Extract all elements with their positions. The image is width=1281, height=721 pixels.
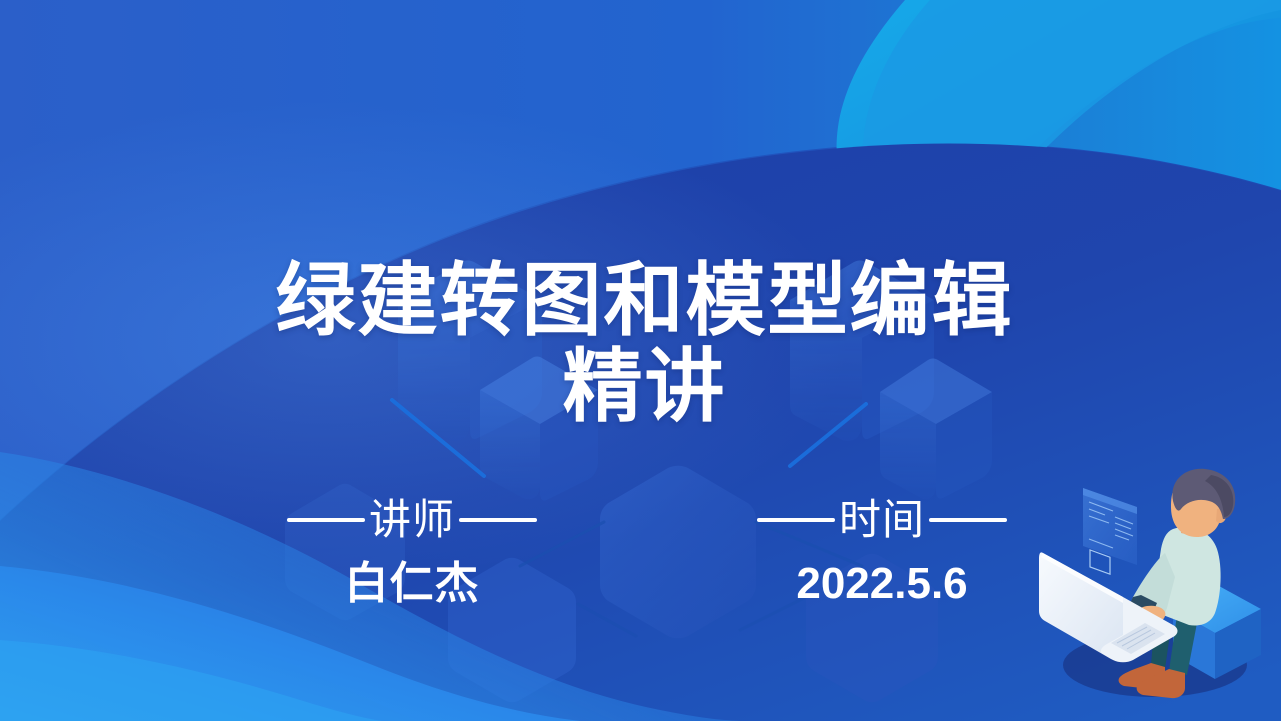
rule-right-instructor bbox=[459, 518, 537, 522]
slide-title: 绿建转图和模型编辑 精讲 bbox=[0, 258, 1281, 430]
meta-label-instructor: 讲师 bbox=[369, 496, 455, 544]
title-line-1: 绿建转图和模型编辑 bbox=[8, 258, 1281, 344]
rule-left-instructor bbox=[287, 518, 365, 522]
rule-left-date bbox=[757, 518, 835, 522]
meta-value-instructor: 白仁杰 bbox=[345, 558, 480, 610]
meta-head-date: 时间 bbox=[757, 496, 1007, 544]
floating-ui-panel bbox=[1083, 488, 1137, 574]
meta-value-date: 2022.5.6 bbox=[796, 558, 967, 610]
rule-right-date bbox=[929, 518, 1007, 522]
meta-block-instructor: 讲师 白仁杰 bbox=[232, 496, 592, 610]
meta-label-date: 时间 bbox=[839, 496, 925, 544]
meta-head-instructor: 讲师 bbox=[287, 496, 537, 544]
slide-meta-row: 讲师 白仁杰 时间 2022.5.6 bbox=[232, 496, 1062, 610]
presentation-title-slide: 绿建转图和模型编辑 精讲 讲师 白仁杰 时间 2022.5.6 bbox=[0, 0, 1281, 721]
title-line-2: 精讲 bbox=[8, 344, 1281, 430]
person-working-on-laptop-illustration bbox=[1005, 457, 1273, 719]
